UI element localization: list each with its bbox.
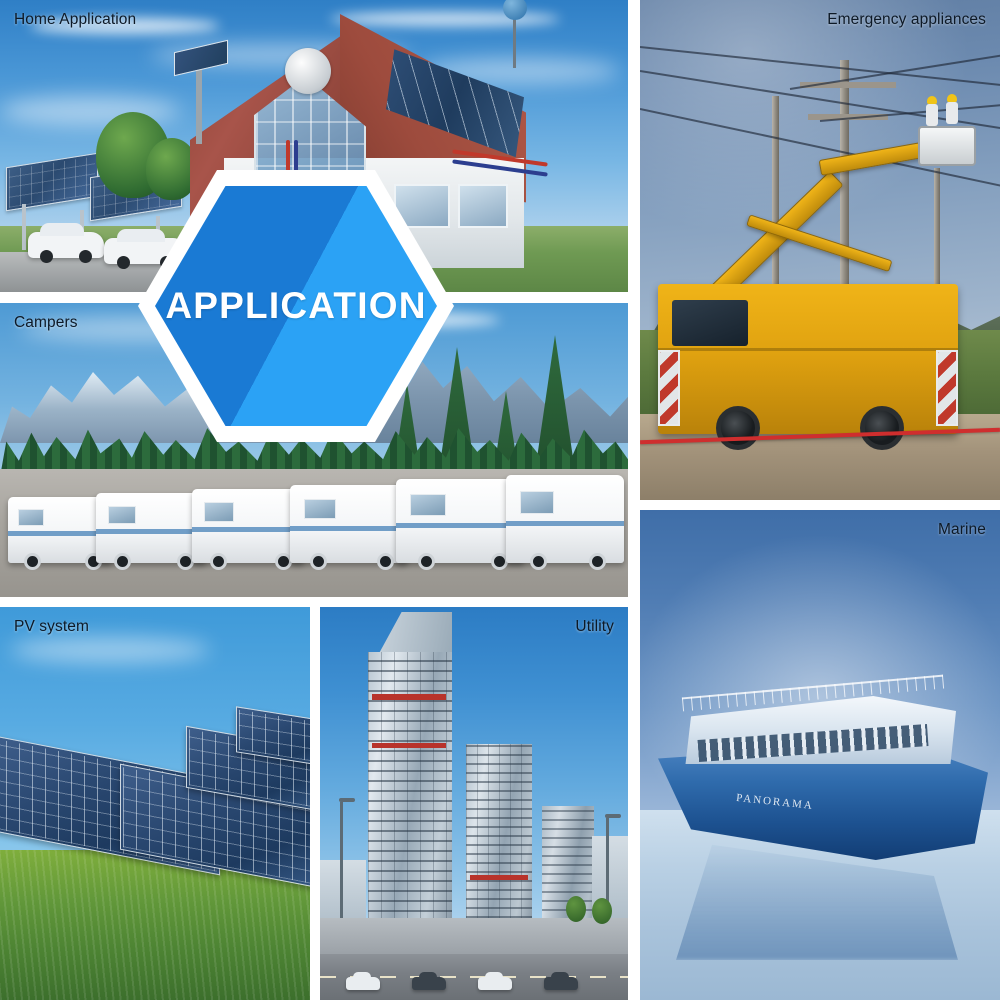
rv-motorhome: [192, 489, 304, 563]
panel-label-home-application: Home Application: [14, 11, 136, 29]
rv-window: [520, 491, 554, 514]
truck-body-seam: [658, 348, 958, 351]
rv-stripe: [192, 527, 304, 532]
rv-motorhome: [396, 479, 524, 563]
wheel: [79, 250, 92, 263]
rv-stripe: [506, 521, 624, 526]
wheel: [716, 406, 760, 450]
panel-label-campers: Campers: [14, 314, 78, 332]
wheel: [24, 553, 41, 570]
rv-motorhome: [96, 493, 206, 563]
passenger-yacht: PANORAMA: [658, 660, 988, 860]
window: [458, 184, 508, 228]
wheel: [114, 553, 131, 570]
street-tree: [592, 898, 612, 924]
car: [478, 977, 512, 990]
wheel: [860, 406, 904, 450]
rv-window: [108, 506, 136, 524]
car: [346, 977, 380, 990]
rv-window: [204, 502, 234, 521]
plaza: [320, 918, 628, 956]
panel-emergency-appliances: Emergency appliances: [640, 0, 1000, 500]
street-tree: [566, 896, 586, 922]
satellite-dish-icon: [285, 48, 331, 94]
hazard-stripe-marker: [936, 350, 958, 426]
wheel: [589, 553, 606, 570]
truck-cab-window: [672, 300, 748, 346]
street-light: [340, 802, 343, 918]
wheel: [210, 553, 227, 570]
panel-utility: Utility: [320, 607, 628, 1000]
panel-marine: PANORAMA Marine: [640, 510, 1000, 1000]
wheel: [40, 250, 53, 263]
rv-window: [304, 499, 336, 519]
parked-car: [28, 232, 104, 258]
bucket-truck: [658, 284, 958, 434]
facade-accent-band: [372, 743, 446, 748]
lineman-worker: [946, 102, 958, 124]
car: [412, 977, 446, 990]
hexagon-title: APPLICATION: [165, 285, 426, 327]
application-collage: Home Application: [0, 0, 1000, 1000]
car: [544, 977, 578, 990]
application-hexagon-badge: APPLICATION: [138, 170, 454, 442]
panel-pv-system: PV system: [0, 607, 310, 1000]
hazard-stripe-marker: [658, 350, 680, 426]
rv-stripe: [396, 523, 524, 528]
wheel: [117, 256, 130, 269]
pole-mounted-solar-panel: [196, 62, 202, 144]
panel-label-marine: Marine: [938, 521, 986, 539]
array-leg: [22, 204, 26, 250]
wheel: [377, 553, 394, 570]
solar-panel: [6, 153, 98, 212]
rv-window: [410, 494, 446, 516]
lineman-worker: [926, 104, 938, 126]
wheel: [530, 553, 547, 570]
bucket-platform: [918, 126, 976, 166]
rv-motorhome: [506, 475, 624, 563]
facade-accent-band: [372, 694, 446, 700]
rv-stripe: [96, 529, 206, 534]
rv-window: [18, 509, 44, 526]
panel-label-emergency-appliances: Emergency appliances: [827, 11, 986, 29]
panel-label-utility: Utility: [575, 618, 614, 636]
rv-motorhome: [290, 485, 408, 563]
rv-stripe: [290, 526, 408, 531]
facade-accent-band: [470, 875, 528, 880]
wheel: [418, 553, 435, 570]
cloud-wisp: [10, 637, 210, 663]
panel-label-pv-system: PV system: [14, 618, 89, 636]
wheel: [310, 553, 327, 570]
